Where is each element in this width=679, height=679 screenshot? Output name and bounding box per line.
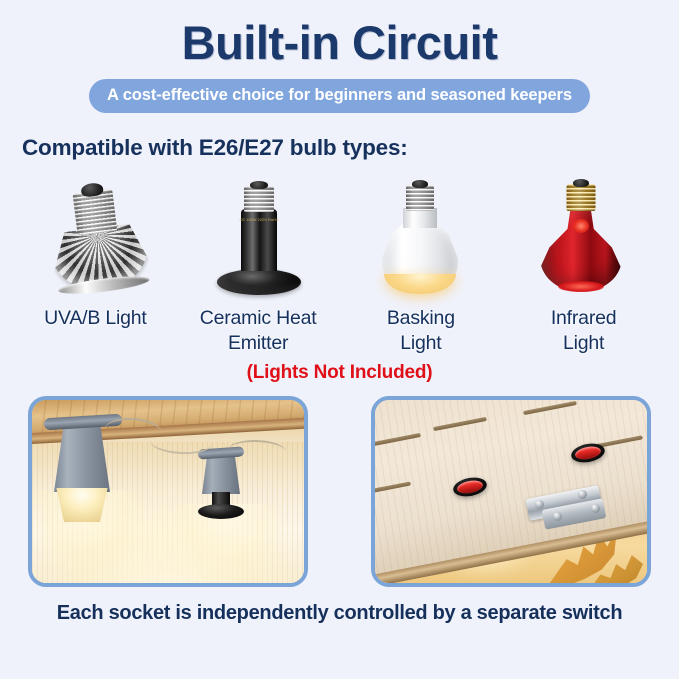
compatibility-heading: Compatible with E26/E27 bulb types: (22, 135, 679, 161)
subtitle-pill-container: A cost-effective choice for beginners an… (0, 79, 679, 113)
footer-caption: Each socket is independently controlled … (0, 602, 679, 625)
hinge-screw-head (535, 500, 544, 509)
bulb-contact-tip-icon (412, 180, 428, 188)
uva-b-reflector-bulb-icon (16, 166, 180, 308)
bulb-label-row: UVA/B Light Ceramic Heat Emitter Basking… (0, 306, 679, 356)
bulb-label-line1: Infrared (502, 306, 665, 331)
bulb-label-line2: Emitter (177, 331, 340, 356)
brass-screw-base-icon (566, 184, 595, 211)
bulb-label-line2: Light (340, 331, 503, 356)
lights-not-included-note: (Lights Not Included) (0, 362, 679, 384)
bulb-label-line2: Light (502, 331, 665, 356)
subtitle-pill: A cost-effective choice for beginners an… (89, 79, 590, 113)
bulb-label-line1: UVA/B Light (14, 306, 177, 331)
bulb-contact-tip-icon (573, 179, 589, 187)
lamp-sockets-installed-photo (28, 396, 308, 587)
bulb-image-row: CE 150W 220V RoHS (0, 175, 679, 300)
red-bottom-glow-icon (558, 281, 604, 292)
ceramic-body-icon: CE 150W 220V RoHS (241, 209, 277, 271)
bulb-neck-icon (403, 208, 437, 228)
lamp-two-emitter-disc (198, 504, 244, 519)
screw-base-icon (244, 186, 274, 212)
red-rocker-switches-photo (371, 396, 651, 587)
bulb-contact-tip-icon (250, 181, 268, 189)
bulb-label-ceramic-heat-emitter: Ceramic Heat Emitter (177, 306, 340, 356)
bulb-label-uva-b: UVA/B Light (14, 306, 177, 356)
bulb-label-basking: Basking Light (340, 306, 503, 356)
bulb-label-line1: Basking (340, 306, 503, 331)
hinge-screw-head (591, 504, 600, 513)
infrared-light-bulb-icon (506, 175, 656, 300)
warm-glow-icon (384, 274, 456, 294)
ventilation-slot (603, 396, 651, 399)
photo-row (0, 396, 679, 587)
ceramic-heat-emitter-icon: CE 150W 220V RoHS (184, 175, 334, 300)
bulb-label-line1: Ceramic Heat (177, 306, 340, 331)
basking-light-bulb-icon (345, 175, 495, 300)
lamp-two-shade (202, 454, 240, 494)
screw-base-icon (406, 185, 434, 211)
bulb-label-infrared: Infrared Light (502, 306, 665, 356)
hinge-screw-head (578, 490, 587, 499)
ceramic-disc-base-icon (217, 269, 301, 295)
filament-glow-icon (573, 219, 589, 233)
hinge-screw-head (553, 512, 562, 521)
page-title: Built-in Circuit (0, 0, 679, 66)
ceramic-rating-text: CE 150W 220V RoHS (239, 217, 278, 222)
